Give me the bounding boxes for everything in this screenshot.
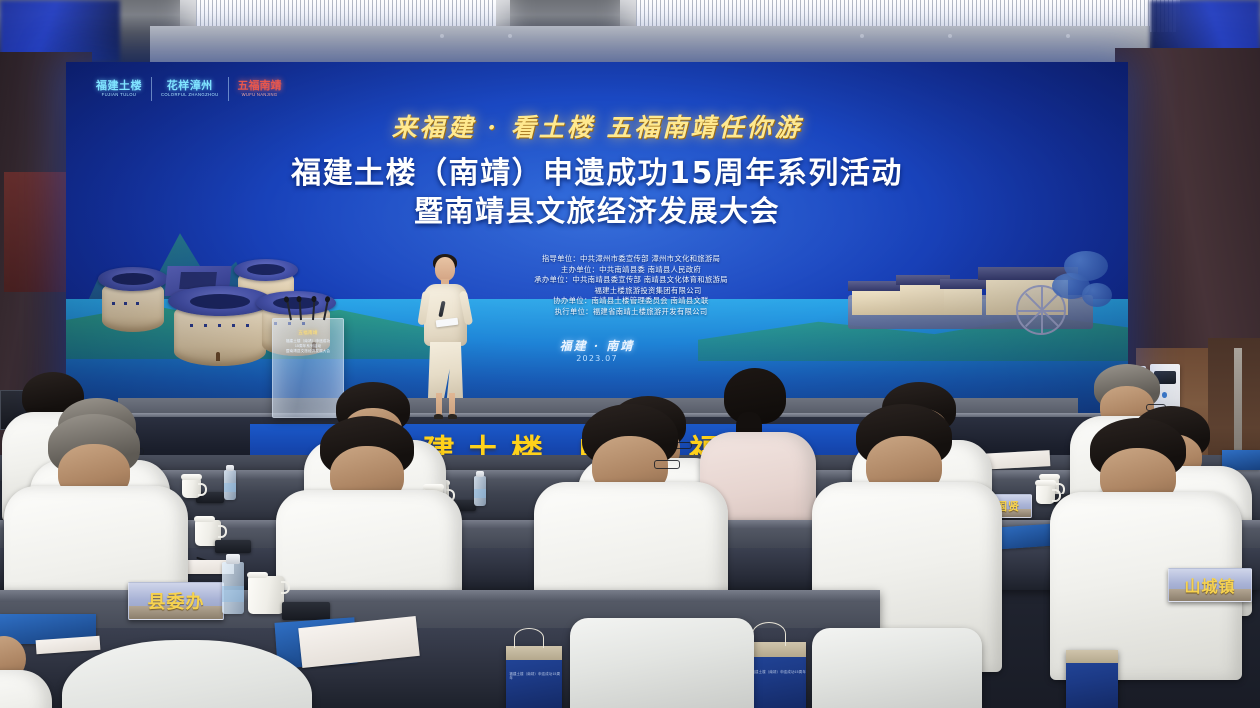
screen-signature: 福建 · 南靖 [66,337,1128,354]
nameplate-county-party-office: 县委办 [128,582,224,620]
gift-bag-2: 福建土楼（南靖）申遗成功15周年 [748,642,806,708]
emcee-person [418,257,474,419]
logo-zhangzhou-sub: COLORFUL ZHANGZHOU [161,92,219,98]
ceiling [0,0,1260,62]
logo-divider-2 [228,77,229,101]
logo-zhangzhou-main: 花样漳州 [167,80,213,92]
logo-fujian-tulou-main: 福建土楼 [96,80,142,92]
logo-wufu-nanjing-sub: WUFU NANJING [242,92,278,98]
organizer-line-1: 主办单位：中共南靖县委 南靖县人民政府 [481,265,781,276]
led-backdrop-screen: 福建土楼 FUJIAN TULOU 花样漳州 COLORFUL ZHANGZHO… [66,62,1128,417]
gift-bag-3 [1066,650,1118,708]
organizer-line-3: 福建土楼旅游投资集团有限公司 [481,286,781,297]
nameplate-shancheng-town: 山城镇 [1168,568,1252,602]
emcee-head [435,257,455,281]
gift-bag-1: 福建土楼（南靖）申遗成功15周年 [506,646,562,708]
logo-fujian-tulou: 福建土楼 FUJIAN TULOU [96,74,142,104]
gift-bag-handle [514,628,544,648]
water-bottle [222,562,244,614]
gift-bag-text: 福建土楼（南靖）申遗成功15周年 [751,670,805,674]
lectern-text: 福建土楼（南靖）申遗成功15周年系列活动暨南靖县文旅经济发展大会 [273,339,343,353]
screen-headline: 来福建 · 看土楼 五福南靖任你游 [66,108,1128,144]
screen-title-line1: 福建土楼（南靖）申遗成功15周年系列活动 [66,148,1128,192]
teacup [182,478,201,498]
organizer-line-2: 承办单位：中共南靖县委宣传部 南靖县文化体育和旅游局 [481,275,781,286]
organizer-credits: 指导单位：中共漳州市委宣传部 漳州市文化和旅游局 主办单位：中共南靖县委 南靖县… [481,254,781,318]
logo-divider-1 [151,77,152,101]
nameplate-county-party-office-text: 县委办 [148,588,205,614]
coaster-tray [282,602,330,620]
logo-fujian-tulou-sub: FUJIAN TULOU [102,92,137,98]
sponsor-logo-row: 福建土楼 FUJIAN TULOU 花样漳州 COLORFUL ZHANGZHO… [96,74,282,104]
organizer-line-4: 协办单位：南靖县土楼管理委员会 南靖县文联 [481,296,781,307]
logo-zhangzhou: 花样漳州 COLORFUL ZHANGZHOU [161,74,219,104]
emcee-skirt [428,342,463,398]
gift-bag-handle [752,622,786,646]
coaster-tray [215,540,251,553]
nameplate-shancheng-text: 山城镇 [1184,573,1235,597]
lectern-logo: 五福南靖 [298,330,318,336]
chair-back-foreground-3 [812,628,982,708]
gift-bag-text: 福建土楼（南靖）申遗成功15周年 [509,672,562,681]
organizer-line-0: 指导单位：中共漳州市委宣传部 漳州市文化和旅游局 [481,254,781,265]
conference-photo-scene: 福建土楼 FUJIAN TULOU 花样漳州 COLORFUL ZHANGZHO… [0,0,1260,708]
logo-wufu-nanjing-main: 五福南靖 [238,80,282,92]
lectern: 五福南靖 福建土楼（南靖）申遗成功15周年系列活动暨南靖县文旅经济发展大会 [272,318,344,418]
water-bottle [224,470,236,500]
chair-back-foreground-2 [570,618,754,708]
water-bottle [474,476,486,506]
screen-title-line2: 暨南靖县文旅经济发展大会 [66,188,1128,230]
organizer-line-5: 执行单位：福建省南靖土楼旅游开发有限公司 [481,307,781,318]
screen-date: 2023.07 [66,354,1128,363]
eyeglasses [654,460,680,469]
teacup [1036,484,1055,504]
logo-wufu-nanjing: 五福南靖 WUFU NANJING [238,74,282,104]
teacup [248,576,284,614]
